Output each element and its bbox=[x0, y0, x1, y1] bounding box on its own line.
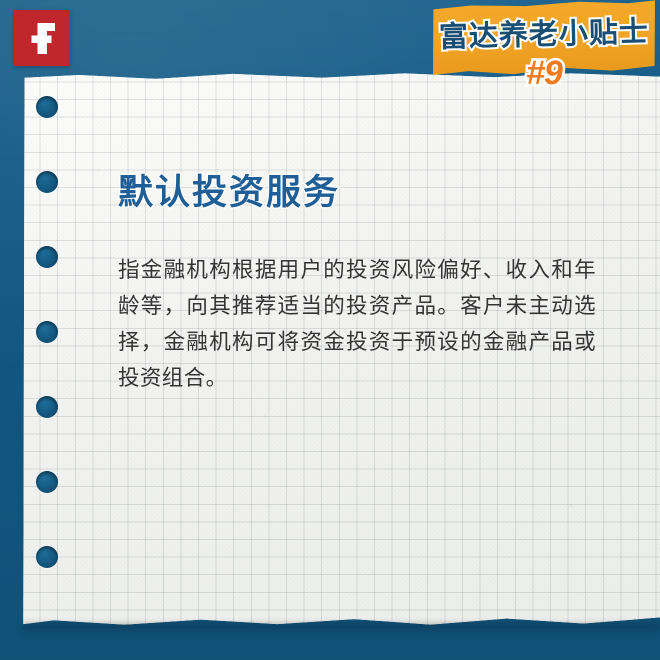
body-paragraph: 指金融机构根据用户的投资风险偏好、收入和年龄等，向其推荐适当的投资产品。客户未主… bbox=[118, 252, 596, 396]
poster-canvas: 富达养老小贴士 #9 默认投资服务 指金融机构根据用户的投资风险偏好、收入和年龄… bbox=[0, 0, 660, 660]
binder-hole bbox=[36, 171, 58, 193]
paper-edge-shadow bbox=[22, 623, 660, 635]
binder-hole bbox=[36, 396, 58, 418]
page-title: 默认投资服务 bbox=[118, 164, 340, 215]
binder-hole bbox=[36, 471, 58, 493]
tip-banner: 富达养老小贴士 bbox=[431, 0, 657, 77]
banner-title: 富达养老小贴士 bbox=[431, 8, 656, 56]
binder-hole bbox=[36, 321, 58, 343]
fidelity-f-mark bbox=[32, 23, 56, 54]
binder-hole bbox=[36, 246, 58, 268]
binder-hole bbox=[36, 546, 58, 568]
fidelity-logo bbox=[14, 10, 70, 66]
binder-hole bbox=[36, 96, 58, 118]
